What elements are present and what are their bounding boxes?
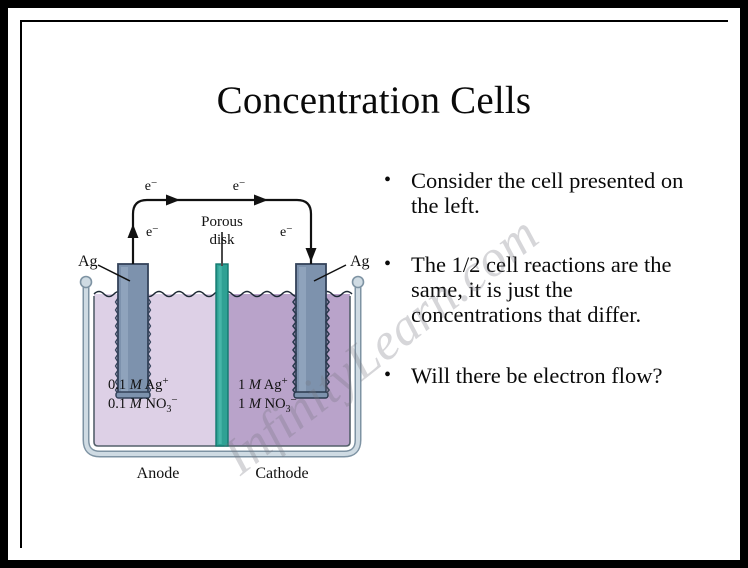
label-anode: Anode bbox=[137, 465, 180, 482]
bullet-marker-icon: • bbox=[384, 168, 391, 193]
concentration-cell-diagram: e− e− e− e− Porous disk Ag Ag 0.1 M Ag+ … bbox=[72, 178, 372, 484]
label-electron-top-left: e− bbox=[145, 178, 157, 194]
bullet-marker-icon: • bbox=[384, 252, 391, 277]
label-electrode-right: Ag bbox=[350, 253, 370, 270]
page-title: Concentration Cells bbox=[40, 78, 708, 123]
label-left-conc-line1: 0.1 M Ag+ bbox=[108, 375, 169, 393]
slide-canvas: Concentration Cells bbox=[0, 0, 748, 568]
label-electron-right-vertical: e− bbox=[280, 223, 292, 240]
porous-disk bbox=[216, 232, 228, 446]
bullet-marker-icon: • bbox=[384, 363, 391, 388]
label-cathode: Cathode bbox=[255, 465, 308, 482]
bullet-item-2: • The 1/2 cell reactions are the same, i… bbox=[378, 252, 708, 327]
bullet-list: • Consider the cell presented on the lef… bbox=[378, 168, 708, 388]
bullet-item-1: • Consider the cell presented on the lef… bbox=[378, 168, 708, 218]
label-electrode-left: Ag bbox=[78, 253, 98, 270]
bullet-text-1: Consider the cell presented on the left. bbox=[411, 168, 683, 218]
label-porous-disk-line2: disk bbox=[209, 232, 235, 248]
electrode-right-cathode bbox=[293, 264, 329, 398]
label-porous-disk-line1: Porous bbox=[201, 214, 243, 230]
bullet-text-2: The 1/2 cell reactions are the same, it … bbox=[411, 252, 672, 327]
label-electron-left-vertical: e− bbox=[146, 223, 158, 240]
bullet-text-3: Will there be electron flow? bbox=[411, 363, 662, 388]
label-right-conc-line1: 1 M Ag+ bbox=[238, 375, 288, 393]
label-electron-top-right: e− bbox=[233, 178, 245, 194]
bullet-item-3: • Will there be electron flow? bbox=[378, 363, 708, 388]
